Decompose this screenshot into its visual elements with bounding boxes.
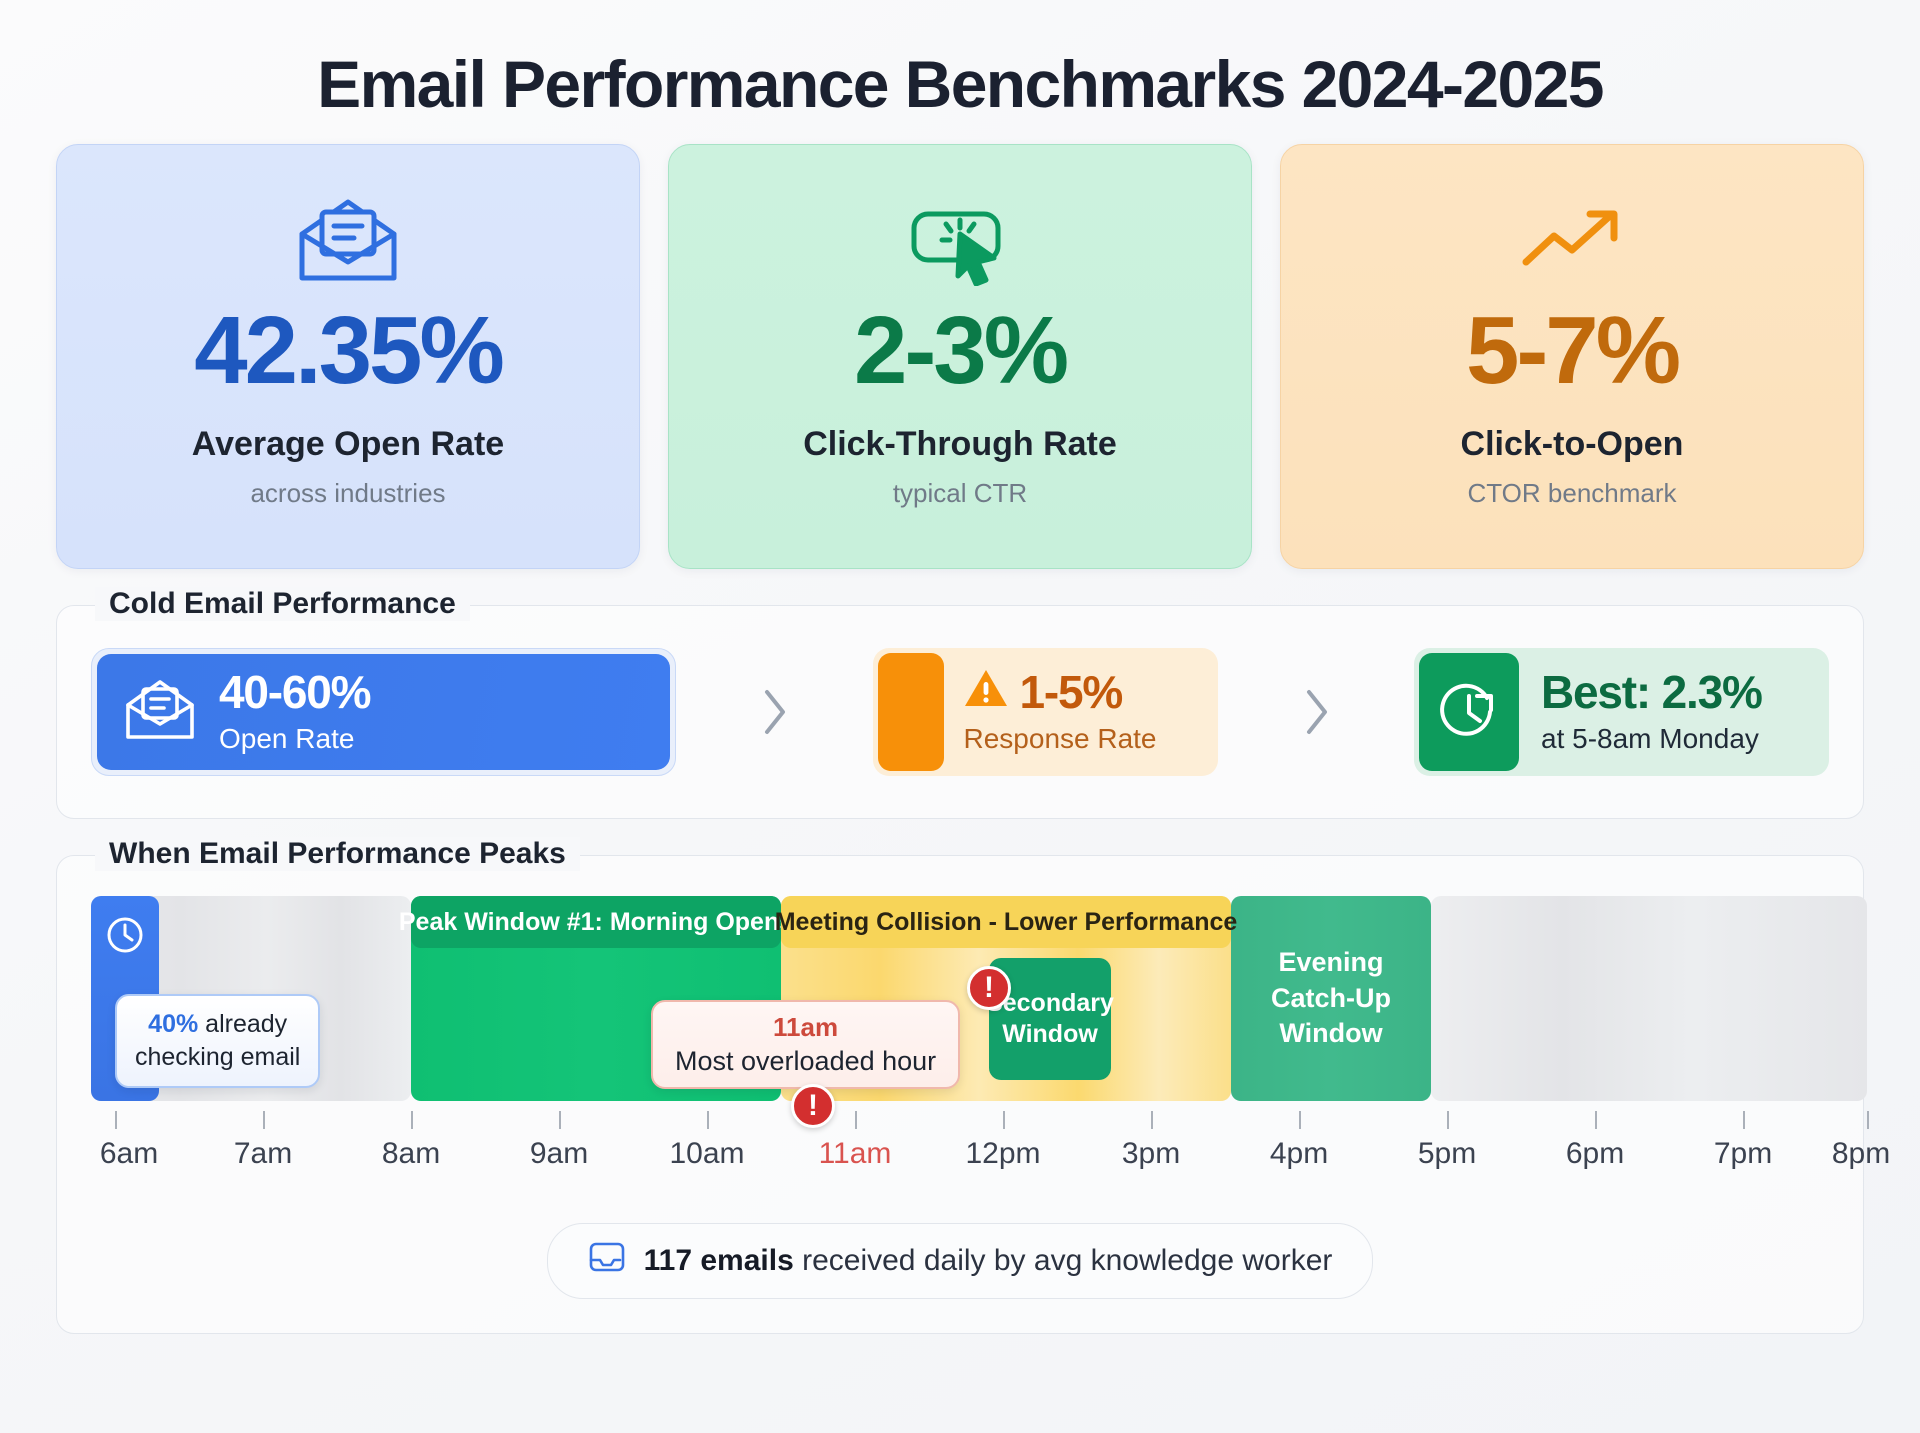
timeline-panel: When Email Performance Peaks — [56, 855, 1864, 1334]
overloaded-hour-callout: 11am Most overloaded hour — [651, 1000, 960, 1089]
callout-time: 11am — [773, 1012, 838, 1043]
clock-icon — [104, 914, 146, 961]
timeline-axis: 6am 7am 8am 9am 10am 11am 12pm 3pm 4pm 5… — [91, 1111, 1829, 1197]
band-label-peak-window-1: Peak Window #1: Morning Opens — [411, 896, 781, 948]
footer-row: 117 emails received daily by avg knowled… — [57, 1223, 1863, 1333]
axis-label-8pm: 8pm — [1832, 1137, 1890, 1171]
axis-tick — [1743, 1111, 1745, 1129]
daily-email-volume-pill: 117 emails received daily by avg knowled… — [547, 1223, 1374, 1299]
clock-refresh-icon — [1419, 653, 1519, 771]
trending-up-icon — [1516, 185, 1628, 295]
axis-label-9am: 9am — [530, 1137, 588, 1171]
chevron-right-icon-2 — [1218, 684, 1415, 740]
callout-text: Most overloaded hour — [675, 1046, 936, 1077]
axis-label-7am: 7am — [234, 1137, 292, 1171]
axis-label-11am: 11am — [819, 1137, 892, 1171]
axis-tick — [411, 1111, 413, 1129]
axis-label-4pm: 4pm — [1270, 1137, 1328, 1171]
axis-tick — [1299, 1111, 1301, 1129]
pipeline-value-wrap: 1-5% — [964, 668, 1157, 716]
pipeline-label: at 5-8am Monday — [1541, 721, 1762, 756]
cold-email-panel-title: Cold Email Performance — [95, 587, 470, 621]
stat-label: Click-to-Open — [1461, 425, 1684, 464]
envelope-icon — [123, 678, 197, 747]
axis-label-6pm: 6pm — [1566, 1137, 1624, 1171]
response-rate-bar — [878, 653, 944, 771]
callout-rest: already — [198, 1010, 287, 1038]
pipeline-step-open-rate[interactable]: 40-60% Open Rate — [91, 648, 676, 776]
stat-sublabel: typical CTR — [893, 478, 1027, 509]
callout-highlight: 40% — [148, 1010, 198, 1038]
footer-strong: 117 emails — [644, 1244, 794, 1277]
axis-label-6am: 6am — [100, 1137, 158, 1171]
axis-label-8am: 8am — [382, 1137, 440, 1171]
open-envelope-icon — [294, 185, 402, 295]
stat-value: 2-3% — [854, 303, 1066, 399]
axis-label-5pm: 5pm — [1418, 1137, 1476, 1171]
page-title: Email Performance Benchmarks 2024-2025 — [56, 0, 1864, 132]
pipeline-value: 40-60% — [219, 668, 370, 716]
axis-tick — [1003, 1111, 1005, 1129]
alert-marker-top: ! — [967, 966, 1011, 1010]
pipeline-label: Response Rate — [964, 721, 1157, 756]
stat-value: 5-7% — [1466, 303, 1678, 399]
axis-tick — [263, 1111, 265, 1129]
axis-tick — [1151, 1111, 1153, 1129]
evening-catchup-label: EveningCatch-UpWindow — [1231, 896, 1431, 1101]
timeline-wrap: Peak Window #1: Morning Opens Meeting Co… — [57, 856, 1863, 1223]
stat-label: Average Open Rate — [192, 425, 504, 464]
axis-tick — [115, 1111, 117, 1129]
callout-line-1: 40% already — [148, 1008, 287, 1041]
cold-email-pipeline: 40-60% Open Rate — [57, 606, 1863, 818]
stat-value: 42.35% — [194, 303, 502, 399]
band-label-meeting-collision: Meeting Collision - Lower Performance — [781, 896, 1231, 948]
axis-tick — [855, 1111, 857, 1129]
pipeline-label: Open Rate — [219, 721, 370, 756]
axis-tick — [707, 1111, 709, 1129]
infographic-root: Email Performance Benchmarks 2024-2025 4… — [0, 0, 1920, 1433]
pipeline-value: Best: 2.3% — [1541, 668, 1762, 716]
pipeline-step-response-rate[interactable]: 1-5% Response Rate — [873, 648, 1218, 776]
timeline-panel-title: When Email Performance Peaks — [95, 837, 580, 871]
axis-tick — [1867, 1111, 1869, 1129]
inbox-icon — [588, 1240, 626, 1282]
chevron-right-icon — [676, 684, 873, 740]
cold-email-panel: Cold Email Performance 40-60% Open — [56, 605, 1864, 819]
stat-card-open-rate: 42.35% Average Open Rate across industri… — [56, 144, 640, 569]
stat-card-ctor: 5-7% Click-to-Open CTOR benchmark — [1280, 144, 1864, 569]
axis-label-3pm: 3pm — [1122, 1137, 1180, 1171]
pipeline-value: 1-5% — [1020, 668, 1123, 716]
timeline-track: Peak Window #1: Morning Opens Meeting Co… — [91, 896, 1829, 1101]
stat-card-ctr: 2-3% Click-Through Rate typical CTR — [668, 144, 1252, 569]
axis-label-10am: 10am — [669, 1137, 744, 1171]
stat-card-row: 42.35% Average Open Rate across industri… — [56, 144, 1864, 569]
pipeline-step-best-time[interactable]: Best: 2.3% at 5-8am Monday — [1414, 648, 1829, 776]
axis-tick — [559, 1111, 561, 1129]
click-cursor-icon — [908, 185, 1012, 295]
axis-label-7pm: 7pm — [1714, 1137, 1772, 1171]
axis-tick — [1447, 1111, 1449, 1129]
early-check-callout: 40% already checking email — [115, 994, 320, 1088]
callout-line-2: checking email — [135, 1041, 300, 1074]
axis-label-12pm: 12pm — [965, 1137, 1040, 1171]
stat-sublabel: CTOR benchmark — [1467, 478, 1676, 509]
timeline-band-late-evening — [1431, 896, 1867, 1101]
footer-text: 117 emails received daily by avg knowled… — [644, 1244, 1333, 1278]
stat-sublabel: across industries — [250, 478, 445, 509]
footer-rest: received daily by avg knowledge worker — [794, 1244, 1333, 1277]
warning-triangle-icon — [964, 668, 1008, 716]
stat-label: Click-Through Rate — [803, 425, 1117, 464]
axis-tick — [1595, 1111, 1597, 1129]
